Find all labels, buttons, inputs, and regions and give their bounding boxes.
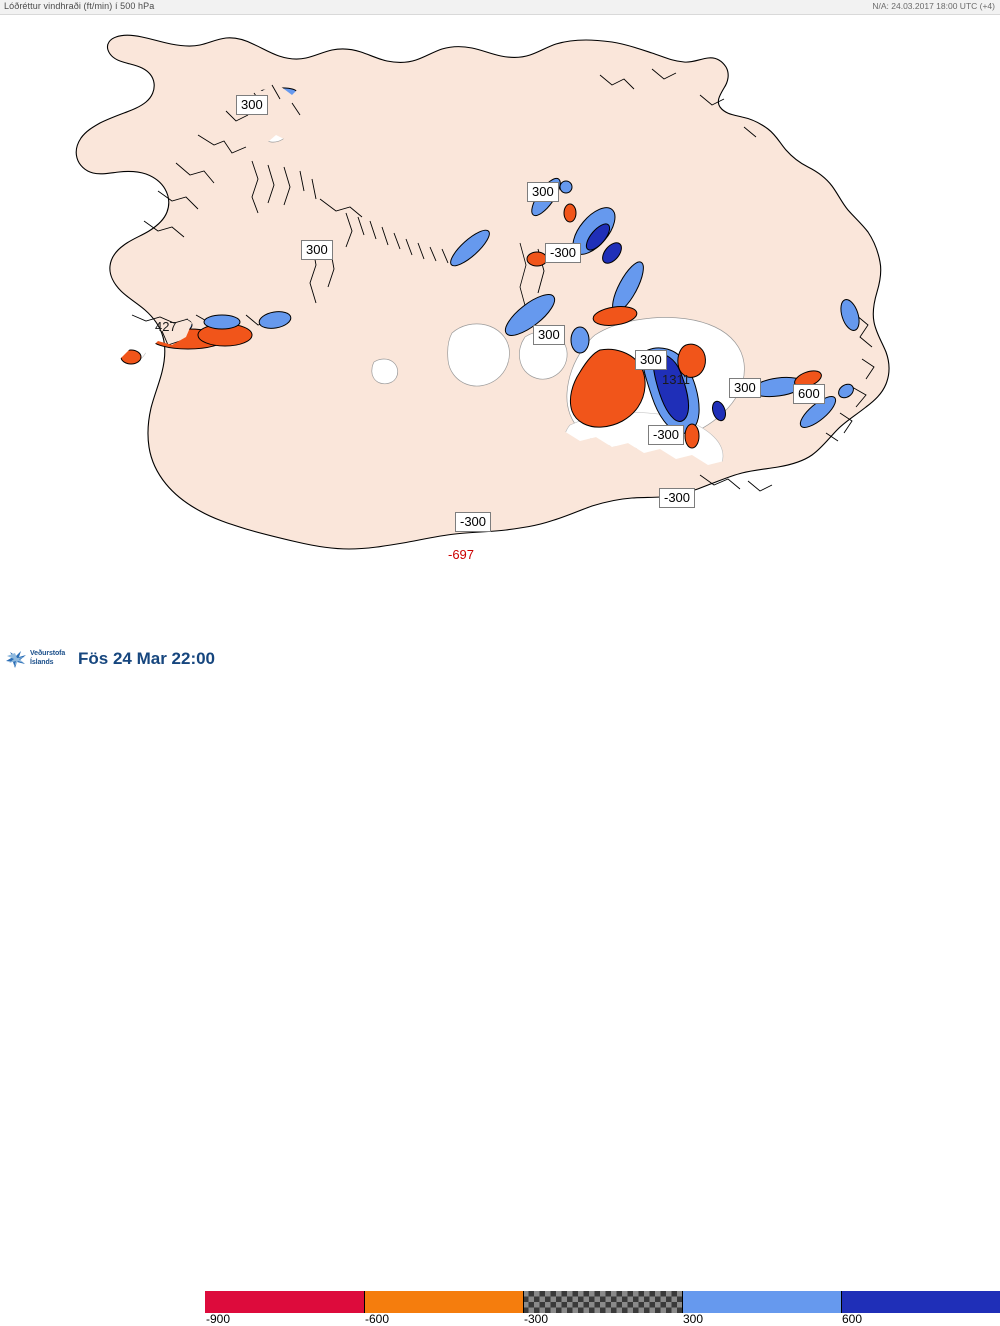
patch-downdraft bbox=[685, 424, 699, 448]
contour-label: -300 bbox=[648, 425, 684, 445]
run-timestamp: N/A: 24.03.2017 18:00 UTC (+4) bbox=[872, 1, 995, 11]
valid-time-label: Fös 24 Mar 22:00 bbox=[78, 649, 215, 669]
patch-updraft bbox=[425, 560, 471, 582]
patch-downdraft bbox=[437, 581, 493, 611]
contour-label: -300 bbox=[545, 243, 581, 263]
contour-label: 300 bbox=[729, 378, 761, 398]
extreme-value-label: -697 bbox=[448, 548, 474, 561]
iceland-landmass bbox=[76, 35, 889, 549]
footer-bar: Veðurstofa Íslands Fös 24 Mar 22:00 -900… bbox=[0, 640, 1000, 680]
contour-label: 300 bbox=[301, 240, 333, 260]
colorbar-segment-orange bbox=[364, 1291, 523, 1313]
colorbar-divider bbox=[682, 1291, 683, 1313]
contour-label: 300 bbox=[533, 325, 565, 345]
glacier-myrdalsjokull bbox=[451, 534, 525, 593]
colorbar-tick: -300 bbox=[524, 1313, 548, 1326]
patch-downdraft bbox=[564, 204, 576, 222]
colorbar-divider bbox=[364, 1291, 365, 1313]
contour-label: 300 bbox=[236, 95, 268, 115]
colorbar-tick: -900 bbox=[206, 1313, 230, 1326]
map-title: Lóðréttur vindhraði (ft/min) í 500 hPa bbox=[4, 1, 154, 11]
patch-updraft bbox=[560, 181, 572, 193]
contour-label: -300 bbox=[659, 488, 695, 508]
logo-line-1: Veðurstofa bbox=[30, 650, 65, 657]
logo-line-2: Íslands bbox=[30, 659, 53, 666]
contour-label: 300 bbox=[527, 182, 559, 202]
contour-label: 300 bbox=[635, 350, 667, 370]
patch-updraft bbox=[446, 536, 517, 602]
patch-updraft-core bbox=[479, 555, 505, 591]
contour-label: 600 bbox=[793, 384, 825, 404]
snowflake-icon bbox=[4, 648, 28, 670]
colorbar-segment-darkblue bbox=[841, 1291, 1000, 1313]
patch-downdraft bbox=[527, 252, 547, 266]
colorbar-segment-transparent bbox=[523, 1291, 682, 1313]
colorbar-divider bbox=[523, 1291, 524, 1313]
patch-updraft bbox=[204, 315, 240, 329]
map-canvas[interactable]: 300 300 300 -300 300 300 -300 300 600 -3… bbox=[0, 15, 1000, 640]
colorbar: -900 -600 -300 300 600 bbox=[205, 1291, 1000, 1313]
colorbar-tick: -600 bbox=[365, 1313, 389, 1326]
landmass-group bbox=[76, 35, 889, 549]
glacier-snaefellsjokull bbox=[372, 359, 398, 384]
logo-text: Veðurstofa Íslands bbox=[30, 650, 65, 667]
colorbar-divider bbox=[841, 1291, 842, 1313]
header-bar: Lóðréttur vindhraði (ft/min) í 500 hPa N… bbox=[0, 0, 1000, 15]
colorbar-segment-lightblue bbox=[682, 1291, 841, 1313]
extreme-value-label: 427 bbox=[155, 320, 177, 333]
patch-updraft bbox=[571, 327, 589, 353]
extreme-value-label: 1311 bbox=[662, 373, 690, 386]
patch-downdraft bbox=[121, 350, 141, 364]
colorbar-segment-crimson bbox=[205, 1291, 364, 1313]
contour-label: -300 bbox=[455, 512, 491, 532]
vedurstofa-logo: Veðurstofa Íslands bbox=[4, 648, 76, 672]
patch-downdraft bbox=[490, 563, 513, 593]
iceland-map bbox=[0, 15, 1000, 640]
colorbar-tick: 300 bbox=[683, 1313, 703, 1326]
colorbar-tick: 600 bbox=[842, 1313, 862, 1326]
